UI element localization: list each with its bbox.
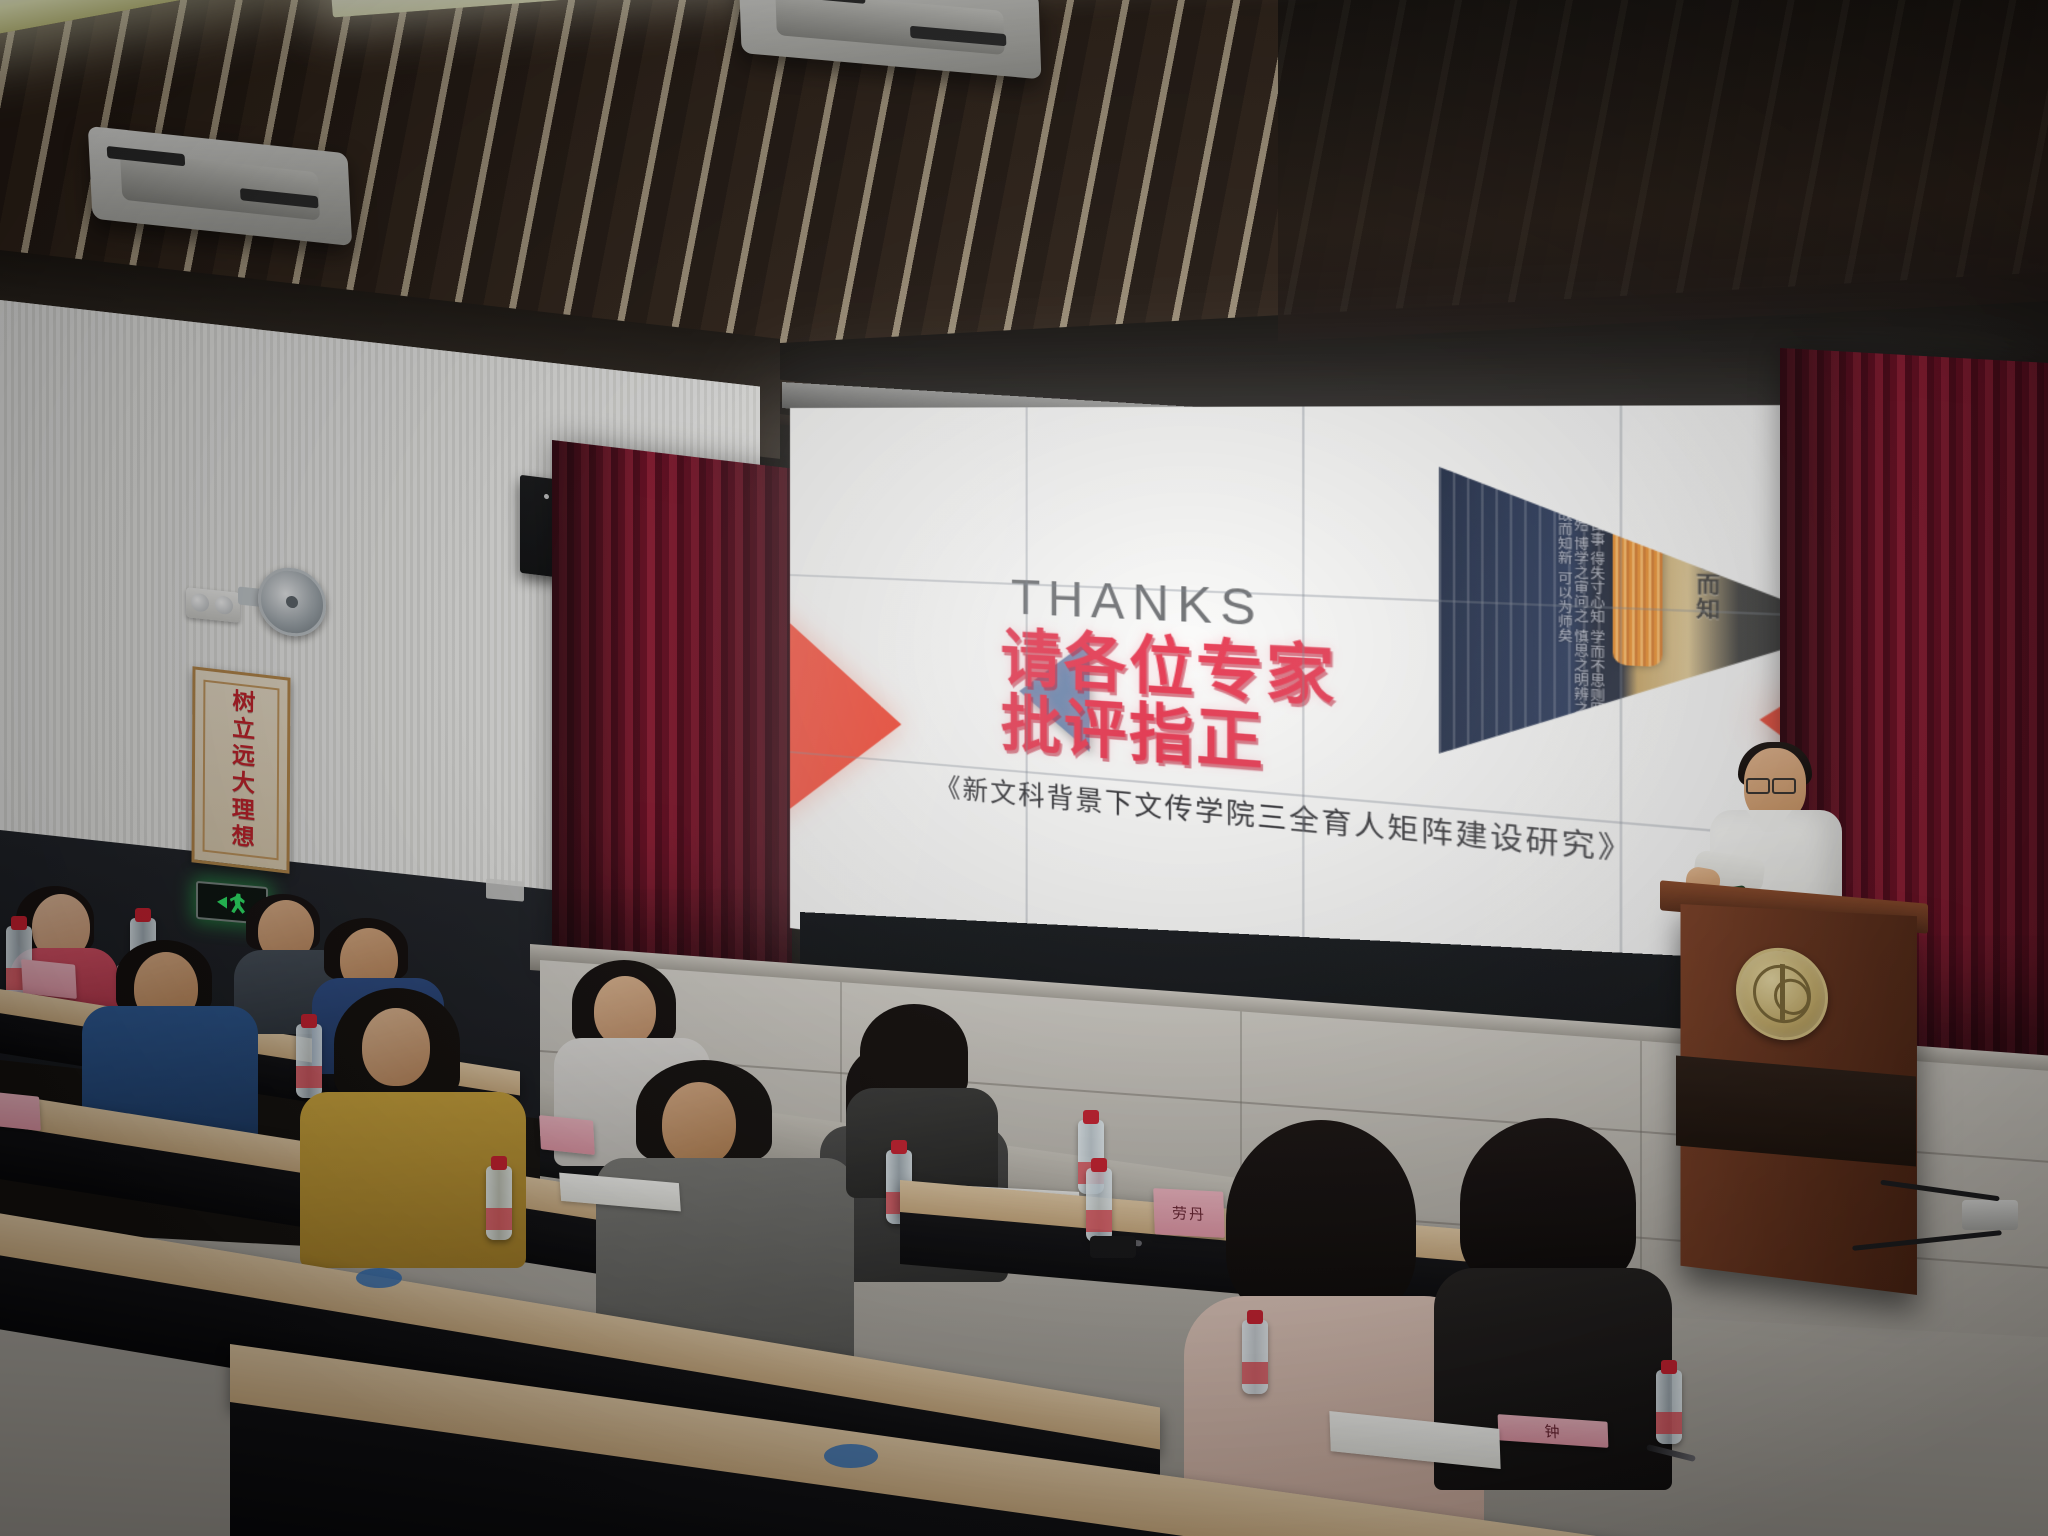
name-card xyxy=(0,1091,41,1131)
wall-motto-banner: 树立远大理想 xyxy=(191,666,290,873)
lecture-hall-scene: 树立远大理想 文章千古事 得失寸心知 学而不思则罔 思而不学则殆 博学之审问之 … xyxy=(0,0,2048,1536)
ceiling-dark-section xyxy=(1278,0,2048,341)
red-triangle-left xyxy=(790,595,901,848)
glasses-icon xyxy=(1746,778,1798,790)
audience-person-c4 xyxy=(596,1060,856,1360)
name-card xyxy=(539,1115,595,1155)
water-bottle xyxy=(1242,1320,1268,1394)
smartphone-icon xyxy=(1090,1236,1136,1258)
water-bottle xyxy=(486,1166,512,1240)
emergency-light-fixture xyxy=(186,587,240,623)
audience-person-c5 xyxy=(846,1004,1006,1184)
blue-object xyxy=(824,1444,878,1468)
exit-arrow-icon xyxy=(217,896,227,909)
wall-motto-text: 树立远大理想 xyxy=(229,688,253,853)
power-strip xyxy=(1962,1200,2018,1230)
water-bottle xyxy=(1086,1168,1112,1242)
name-card-text: 钟 xyxy=(1544,1420,1562,1442)
stage-curtain-left xyxy=(552,440,792,989)
blue-object xyxy=(356,1268,402,1288)
water-bottle xyxy=(1656,1370,1682,1444)
slide-text-block: THANKS 请各位专家 批评指正 《新文科背景下文传学院三全育人矩阵建设研究》 xyxy=(982,567,1651,872)
wall-outlet-plate xyxy=(486,878,524,901)
